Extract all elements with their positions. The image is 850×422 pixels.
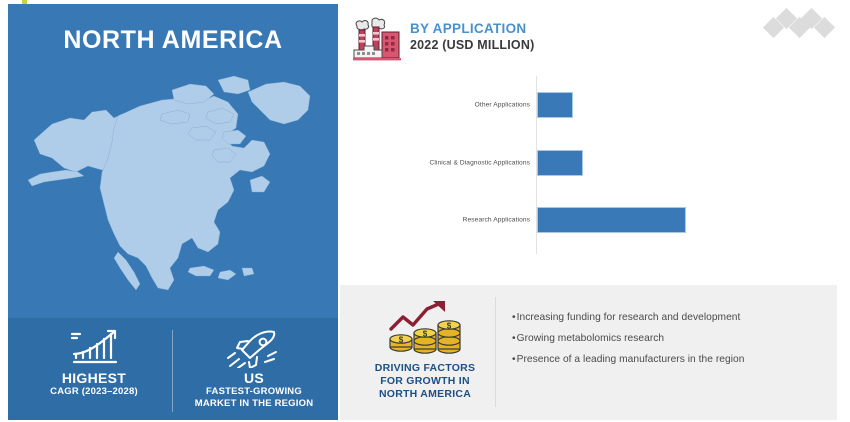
driving-factors-heading-line2: FOR GROWTH IN [360,375,490,388]
stat-cagr-sub: CAGR (2023–2028) [14,386,174,398]
page-title: NORTH AMERICA [8,26,338,55]
factory-icon [352,16,402,62]
list-item: •Growing metabolomics research [512,328,827,349]
bullet-icon: • [512,312,516,323]
bar-chart-growth-icon [64,326,124,368]
stat-us-sub-line1: FASTEST-GROWING [174,386,334,398]
north-america-map [22,62,324,312]
stat-us-value: US [174,370,334,386]
driving-factors-panel: $ $ $ [340,285,837,420]
list-item: •Presence of a leading manufacturers in … [512,349,827,370]
svg-text:$: $ [423,330,428,339]
stat-us-sub-line2: MARKET IN THE REGION [174,398,334,410]
stat-cagr: HIGHEST CAGR (2023–2028) [14,326,174,398]
driving-factors-heading-line1: DRIVING FACTORS [360,362,490,375]
bullet-icon: • [512,333,516,344]
chart-title: BY APPLICATION [410,20,534,37]
bar-other-applications[interactable] [537,92,573,118]
chart-header-text: BY APPLICATION 2022 (USD MILLION) [410,20,534,54]
chart-subtitle: 2022 (USD MILLION) [410,37,534,54]
driving-factors-heading-block: $ $ $ [360,299,490,401]
driving-factors-heading: DRIVING FACTORS FOR GROWTH IN NORTH AMER… [360,362,490,401]
table-row: Other Applications [348,92,838,118]
driving-factors-heading-line3: NORTH AMERICA [360,388,490,401]
bar-research-applications[interactable] [537,207,686,233]
coins-growth-icon: $ $ $ [379,299,471,359]
factor-text-1: Increasing funding for research and deve… [517,312,741,323]
chart-header: BY APPLICATION 2022 (USD MILLION) [352,14,602,66]
list-item: •Increasing funding for research and dev… [512,307,827,328]
bar-label-research-applications: Research Applications [340,217,530,224]
factor-text-3: Presence of a leading manufacturers in t… [517,354,745,365]
diamond-cluster-icon [762,6,836,46]
svg-text:$: $ [447,322,452,331]
stat-cagr-value: HIGHEST [14,370,174,386]
bullet-icon: • [512,354,516,365]
bar-clinical-diagnostic-applications[interactable] [537,150,583,176]
driving-factors-list: •Increasing funding for research and dev… [512,307,827,370]
factor-text-2: Growing metabolomics research [517,333,665,344]
factors-divider [495,297,496,407]
region-panel: NORTH AMERICA [8,4,338,420]
infographic-root: NORTH AMERICA [0,0,850,422]
stat-us: US FASTEST-GROWING MARKET IN THE REGION [174,326,334,410]
rocket-icon [224,326,284,368]
table-row: Research Applications [348,207,838,233]
application-bar-chart: Other Applications Clinical & Diagnostic… [348,70,838,260]
bar-label-clinical-diagnostic-applications: Clinical & Diagnostic Applications [340,160,530,167]
bar-label-other-applications: Other Applications [340,102,530,109]
svg-text:$: $ [399,336,404,345]
table-row: Clinical & Diagnostic Applications [348,150,838,176]
